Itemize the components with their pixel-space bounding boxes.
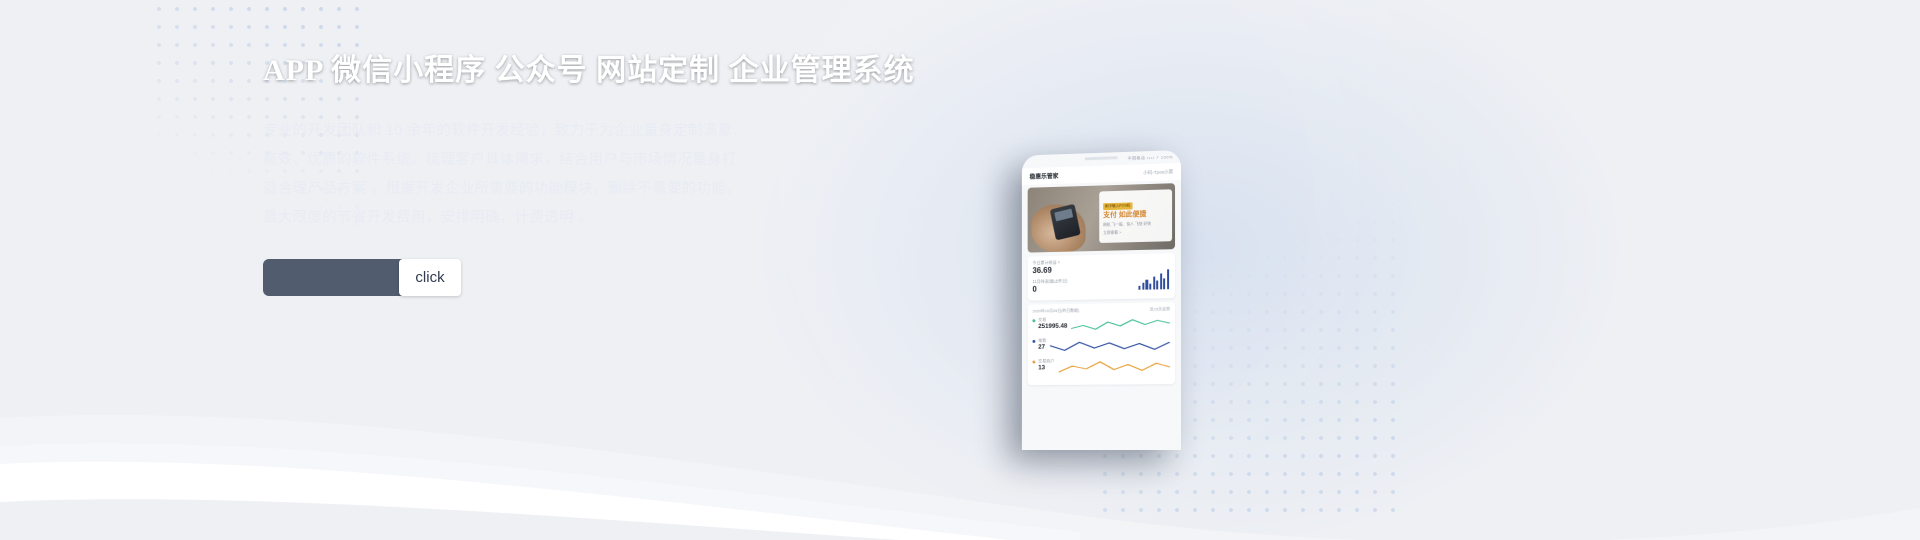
mini-bar <box>1163 278 1165 289</box>
list-item-text: 交易251995.48 <box>1038 317 1067 331</box>
app-title: 稳惠乐管家 <box>1030 171 1059 181</box>
promo-banner[interactable]: 刷卡输入POS机 支付 如此便捷 刷机 飞一般、快人 飞快 好快 立即查看 > <box>1028 183 1175 252</box>
status-dot-icon <box>1032 340 1035 343</box>
click-button[interactable]: click <box>399 259 461 296</box>
description-line-3: 造合理产品方案 。根据开发企业所需要的功能模块，删除不需要的功能， <box>263 175 763 204</box>
description-line-4: 最大限度的节省开发费用，安排明确，计费透明 。 <box>263 204 763 233</box>
description-line-2: 高效、优质的软件系统。梳理客户具体需求，结合用户与市场情况量身打 <box>263 146 763 175</box>
promo-card: 刷卡输入POS机 支付 如此便捷 刷机 飞一般、快人 飞快 好快 立即查看 > <box>1099 189 1172 243</box>
mini-bar <box>1156 280 1158 289</box>
cta-input-field[interactable] <box>263 259 403 296</box>
app-subtitle: 小码-Tpos小票 <box>1143 169 1173 176</box>
sparkline-chart <box>1058 357 1170 375</box>
transactions-date: 2020年10月05日(昨日数据) <box>1032 308 1079 315</box>
list-item-value: 13 <box>1038 364 1054 372</box>
promo-title: 支付 如此便捷 <box>1103 210 1168 219</box>
transactions-card[interactable]: 2020年10月05日(昨日数据) 近15天走势 交易251995.48笔数27… <box>1028 302 1175 385</box>
mini-bar <box>1167 269 1169 289</box>
cta-group: click <box>263 259 461 296</box>
sparkline-chart <box>1071 315 1170 333</box>
status-bar-text: 中国移动 •••• ⚡ 100% <box>1128 154 1173 162</box>
list-item-value: 251995.48 <box>1038 322 1067 331</box>
mini-bar-chart <box>1139 269 1169 290</box>
promo-subtitle-2: 立即查看 > <box>1103 230 1168 237</box>
promo-subtitle-1: 刷机 飞一般、快人 飞快 好快 <box>1103 221 1168 228</box>
transactions-header: 2020年10月05日(昨日数据) 近15天走势 <box>1032 306 1170 314</box>
mini-bar <box>1160 273 1162 289</box>
stats-card[interactable]: 今日累计收益 > 36.69 11月待返(截止昨日) 0 <box>1028 253 1175 301</box>
list-item-label: 笔数 <box>1038 338 1046 343</box>
list-item: 笔数27 <box>1032 336 1170 355</box>
list-item-text: 笔数27 <box>1038 338 1046 352</box>
status-dot-icon <box>1032 319 1035 322</box>
phone-mockup: 中国移动 •••• ⚡ 100% 稳惠乐管家 小码-Tpos小票 刷卡输入POS… <box>1022 150 1181 450</box>
page-title: APP 微信小程序 公众号 网站定制 企业管理系统 <box>263 52 963 90</box>
sparkline-chart <box>1050 336 1170 354</box>
list-item: 交易商户13 <box>1032 357 1170 375</box>
mini-bar <box>1142 283 1144 290</box>
mini-bar <box>1139 286 1141 290</box>
pos-terminal-icon <box>1050 204 1081 241</box>
hero-copy: APP 微信小程序 公众号 网站定制 企业管理系统 专业的开发团队和 10 余年… <box>263 52 963 233</box>
list-item-value: 27 <box>1038 343 1046 351</box>
hero-description: 专业的开发团队和 10 余年的软件开发经验，致力于为企业量身定制满意、 高效、优… <box>263 117 763 233</box>
list-item-text: 交易商户13 <box>1038 359 1054 373</box>
mini-bar <box>1146 280 1148 290</box>
transactions-trend-link[interactable]: 近15天走势 <box>1150 306 1170 312</box>
description-line-1: 专业的开发团队和 10 余年的软件开发经验，致力于为企业量身定制满意、 <box>263 117 763 146</box>
list-item-label: 交易商户 <box>1038 359 1054 365</box>
mini-bar <box>1149 284 1151 290</box>
transactions-list: 交易251995.48笔数27交易商户13 <box>1032 315 1170 375</box>
list-item: 交易251995.48 <box>1032 315 1170 334</box>
mini-bar <box>1153 277 1155 290</box>
hero-banner: APP 微信小程序 公众号 网站定制 企业管理系统 专业的开发团队和 10 余年… <box>0 0 1920 540</box>
promo-chip: 刷卡输入POS机 <box>1103 202 1132 210</box>
status-dot-icon <box>1032 361 1035 364</box>
